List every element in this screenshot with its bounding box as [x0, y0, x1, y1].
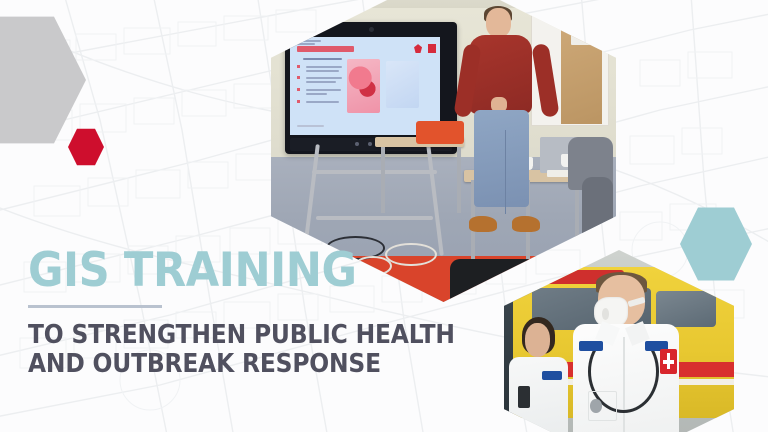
presenter-figure	[464, 8, 547, 229]
gray-hexagon	[0, 14, 86, 146]
red-hexagon	[68, 128, 104, 166]
second-paramedic-figure	[509, 323, 569, 432]
page-title: GIS TRAINING	[28, 248, 433, 293]
subtitle-line-2: AND OUTBREAK RESPONSE	[28, 350, 424, 379]
teal-hexagon	[680, 206, 752, 282]
title-divider	[28, 305, 162, 308]
poster-canvas: GIS TRAINING TO STRENGTHEN PUBLIC HEALTH…	[0, 0, 768, 432]
lead-paramedic-figure	[573, 272, 679, 432]
face-mask	[594, 297, 628, 328]
poster-text-block: GIS TRAINING TO STRENGTHEN PUBLIC HEALTH…	[28, 248, 468, 379]
subtitle-line-1: TO STRENGTHEN PUBLIC HEALTH	[28, 321, 424, 350]
red-cross-badge	[660, 349, 677, 374]
